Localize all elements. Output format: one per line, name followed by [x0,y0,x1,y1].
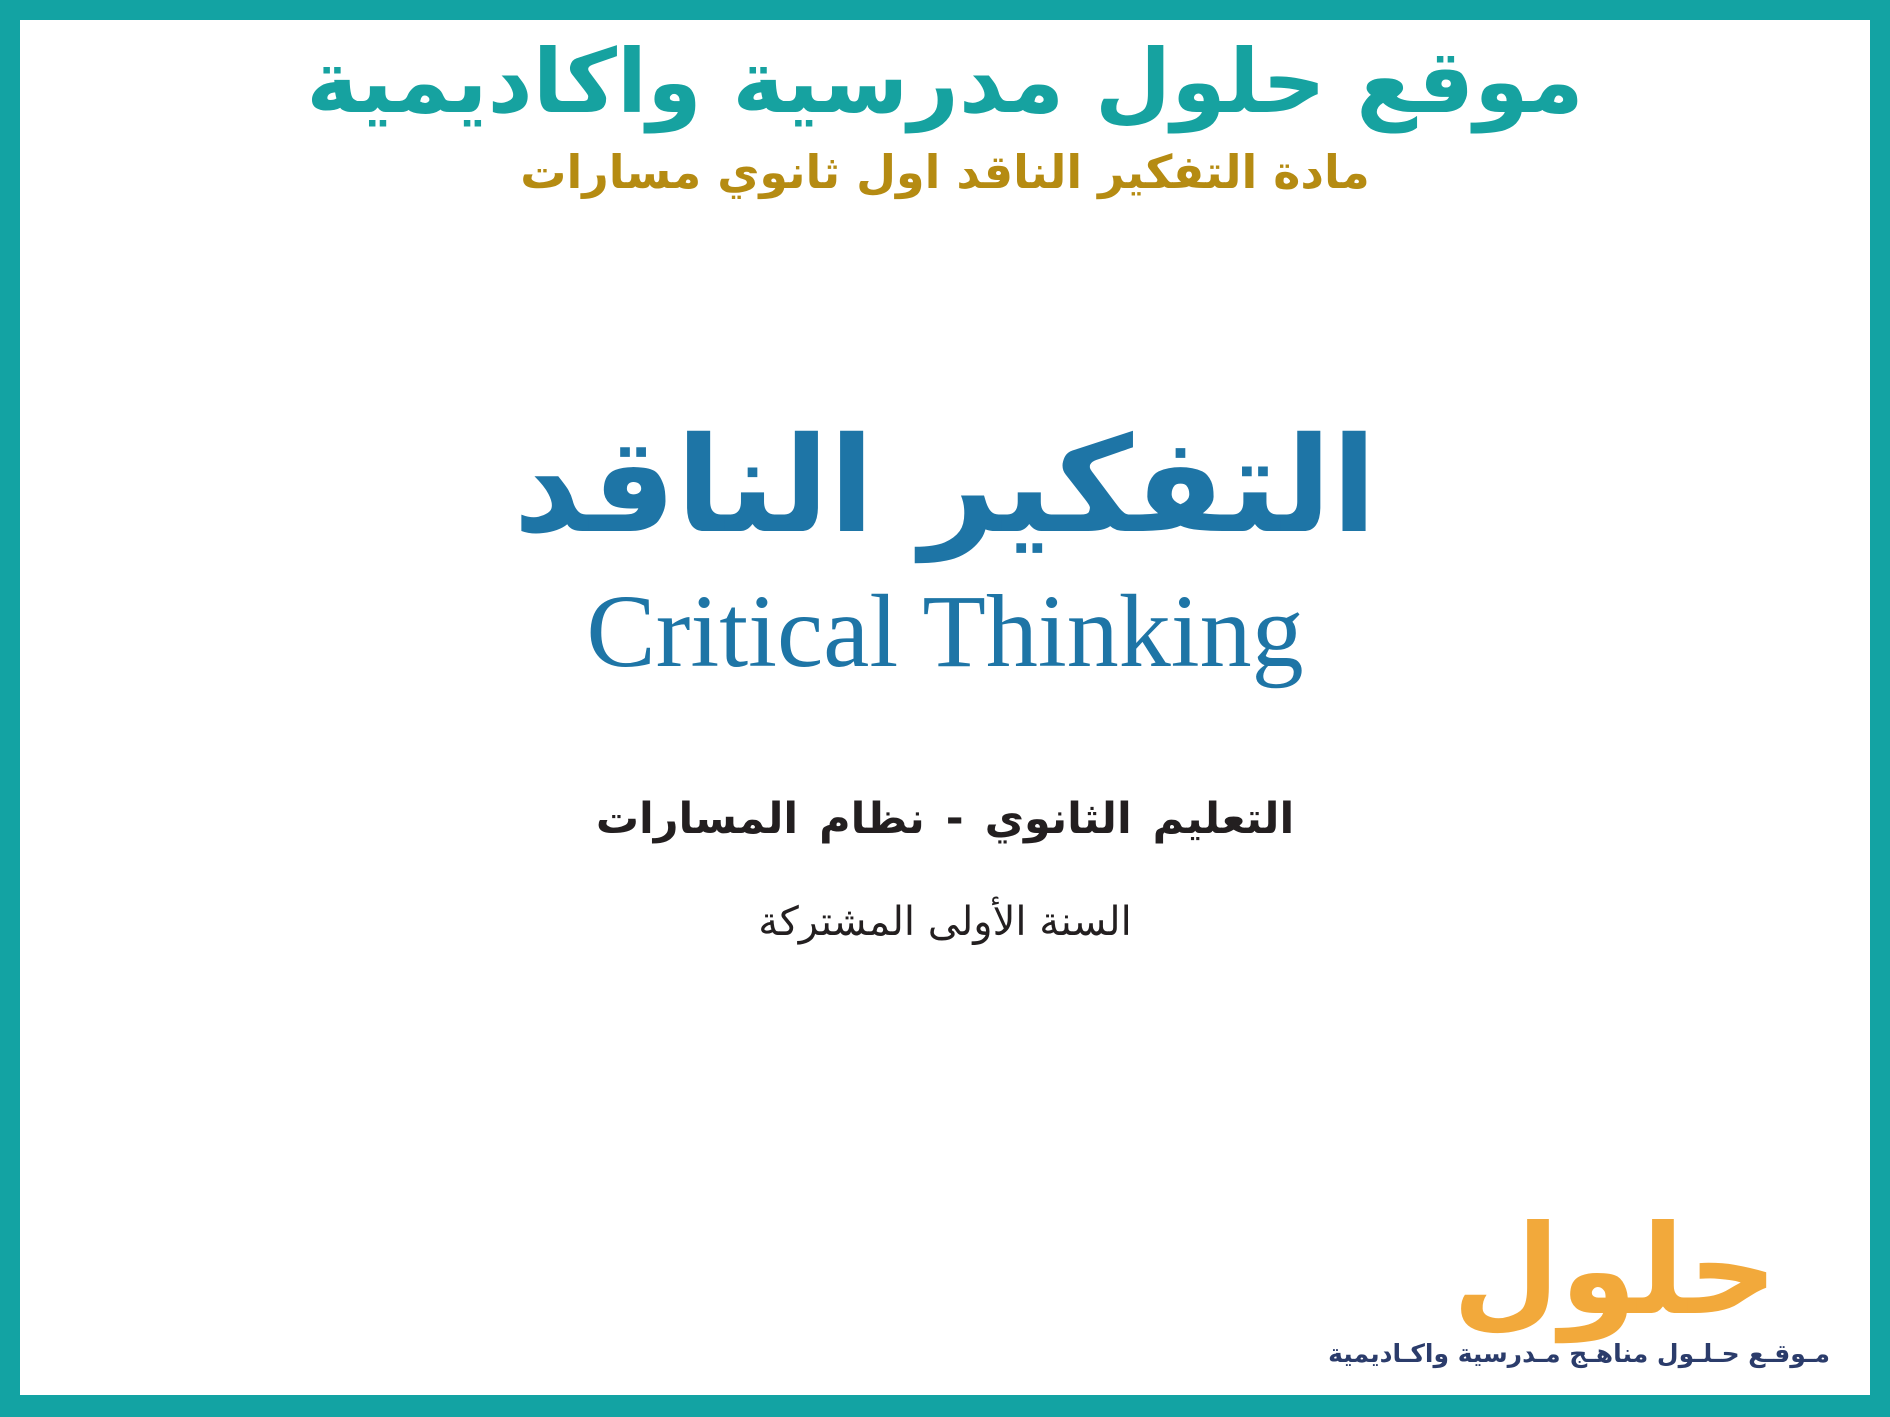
book-cover-block: التفكير الناقد Critical Thinking التعليم… [20,420,1870,946]
subject-subtitle: مادة التفكير الناقد اول ثانوي مسارات [20,147,1870,198]
poster-canvas: موقع حلول مدرسية واكاديمية مادة التفكير … [20,20,1870,1395]
book-title-arabic: التفكير الناقد [20,420,1870,552]
education-stage-line: التعليم الثانوي - نظام المسارات [20,794,1870,846]
logo-tagline: مـوقـع حـلـول مناهـج مـدرسية واكـاديمية [1400,1339,1830,1369]
header-block: موقع حلول مدرسية واكاديمية مادة التفكير … [20,20,1870,198]
school-year-line: السنة الأولى المشتركة [20,898,1870,946]
book-title-english: Critical Thinking [20,580,1870,684]
logo-wordmark: حلول [1400,1209,1830,1333]
poster-frame: موقع حلول مدرسية واكاديمية مادة التفكير … [0,0,1890,1417]
site-title: موقع حلول مدرسية واكاديمية [20,34,1870,129]
hloul-logo: حلول مـوقـع حـلـول مناهـج مـدرسية واكـاد… [1400,1209,1830,1369]
